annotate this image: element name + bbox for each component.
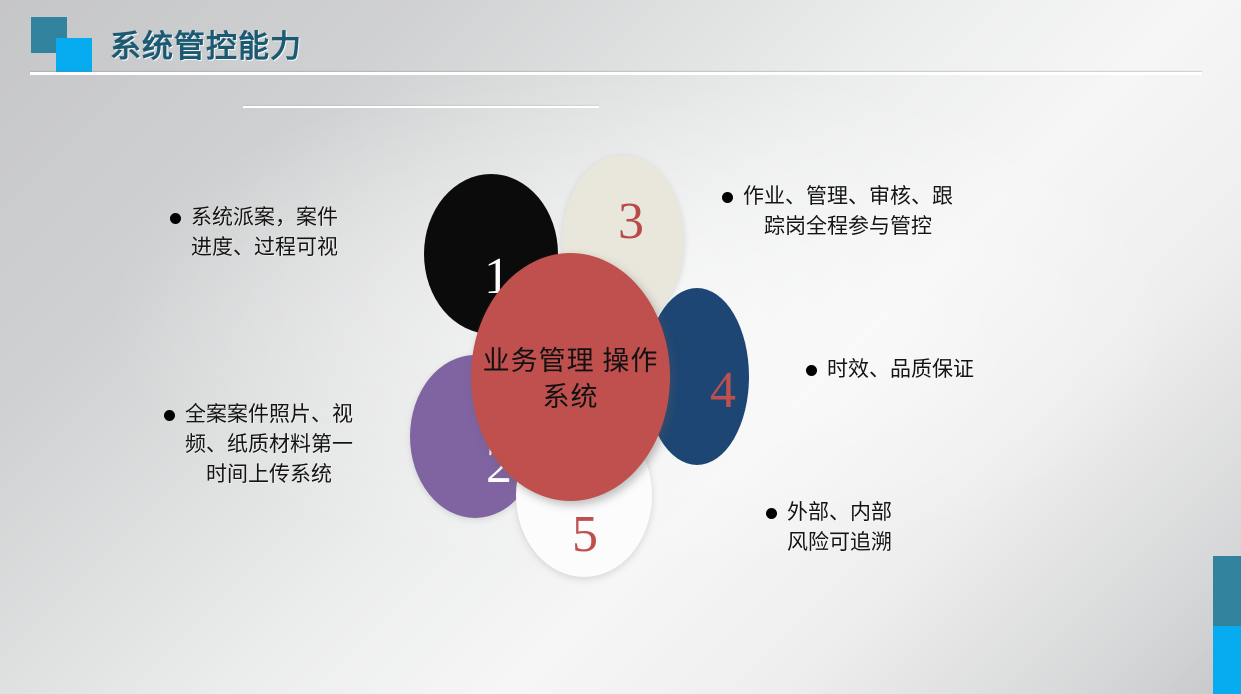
bullet-dot-icon (164, 410, 175, 421)
center-label: 业务管理 操作系统 (471, 343, 670, 415)
callout-right-3: 外部、内部 风险可追溯 (766, 498, 1016, 558)
petal-number-4: 4 (710, 365, 736, 417)
petal-diagram: 1 3 4 2 5 业务管理 操作系统 (0, 0, 1241, 694)
petal-number-3: 3 (618, 196, 644, 248)
bullet-dot-icon (722, 192, 733, 203)
bullet-dot-icon (806, 365, 817, 376)
callout-left-1-text: 系统派案，案件 进度、过程可视 (191, 203, 338, 263)
callout-left-2-text: 全案案件照片、视 频、纸质材料第一 时间上传系统 (185, 400, 353, 491)
callout-right-2-text: 时效、品质保证 (827, 355, 974, 385)
callout-right-1-text: 作业、管理、审核、跟 踪岗全程参与管控 (743, 182, 953, 242)
callout-left-1: 系统派案，案件 进度、过程可视 (170, 203, 420, 263)
callout-right-1: 作业、管理、审核、跟 踪岗全程参与管控 (722, 182, 1052, 242)
callout-left-2: 全案案件照片、视 频、纸质材料第一 时间上传系统 (164, 400, 426, 491)
callout-right-3-text: 外部、内部 风险可追溯 (787, 498, 892, 558)
bullet-dot-icon (766, 508, 777, 519)
petal-number-5: 5 (572, 509, 598, 561)
bullet-dot-icon (170, 213, 181, 224)
center-ellipse[interactable]: 业务管理 操作系统 (471, 253, 670, 501)
callout-right-2: 时效、品质保证 (806, 355, 1056, 385)
